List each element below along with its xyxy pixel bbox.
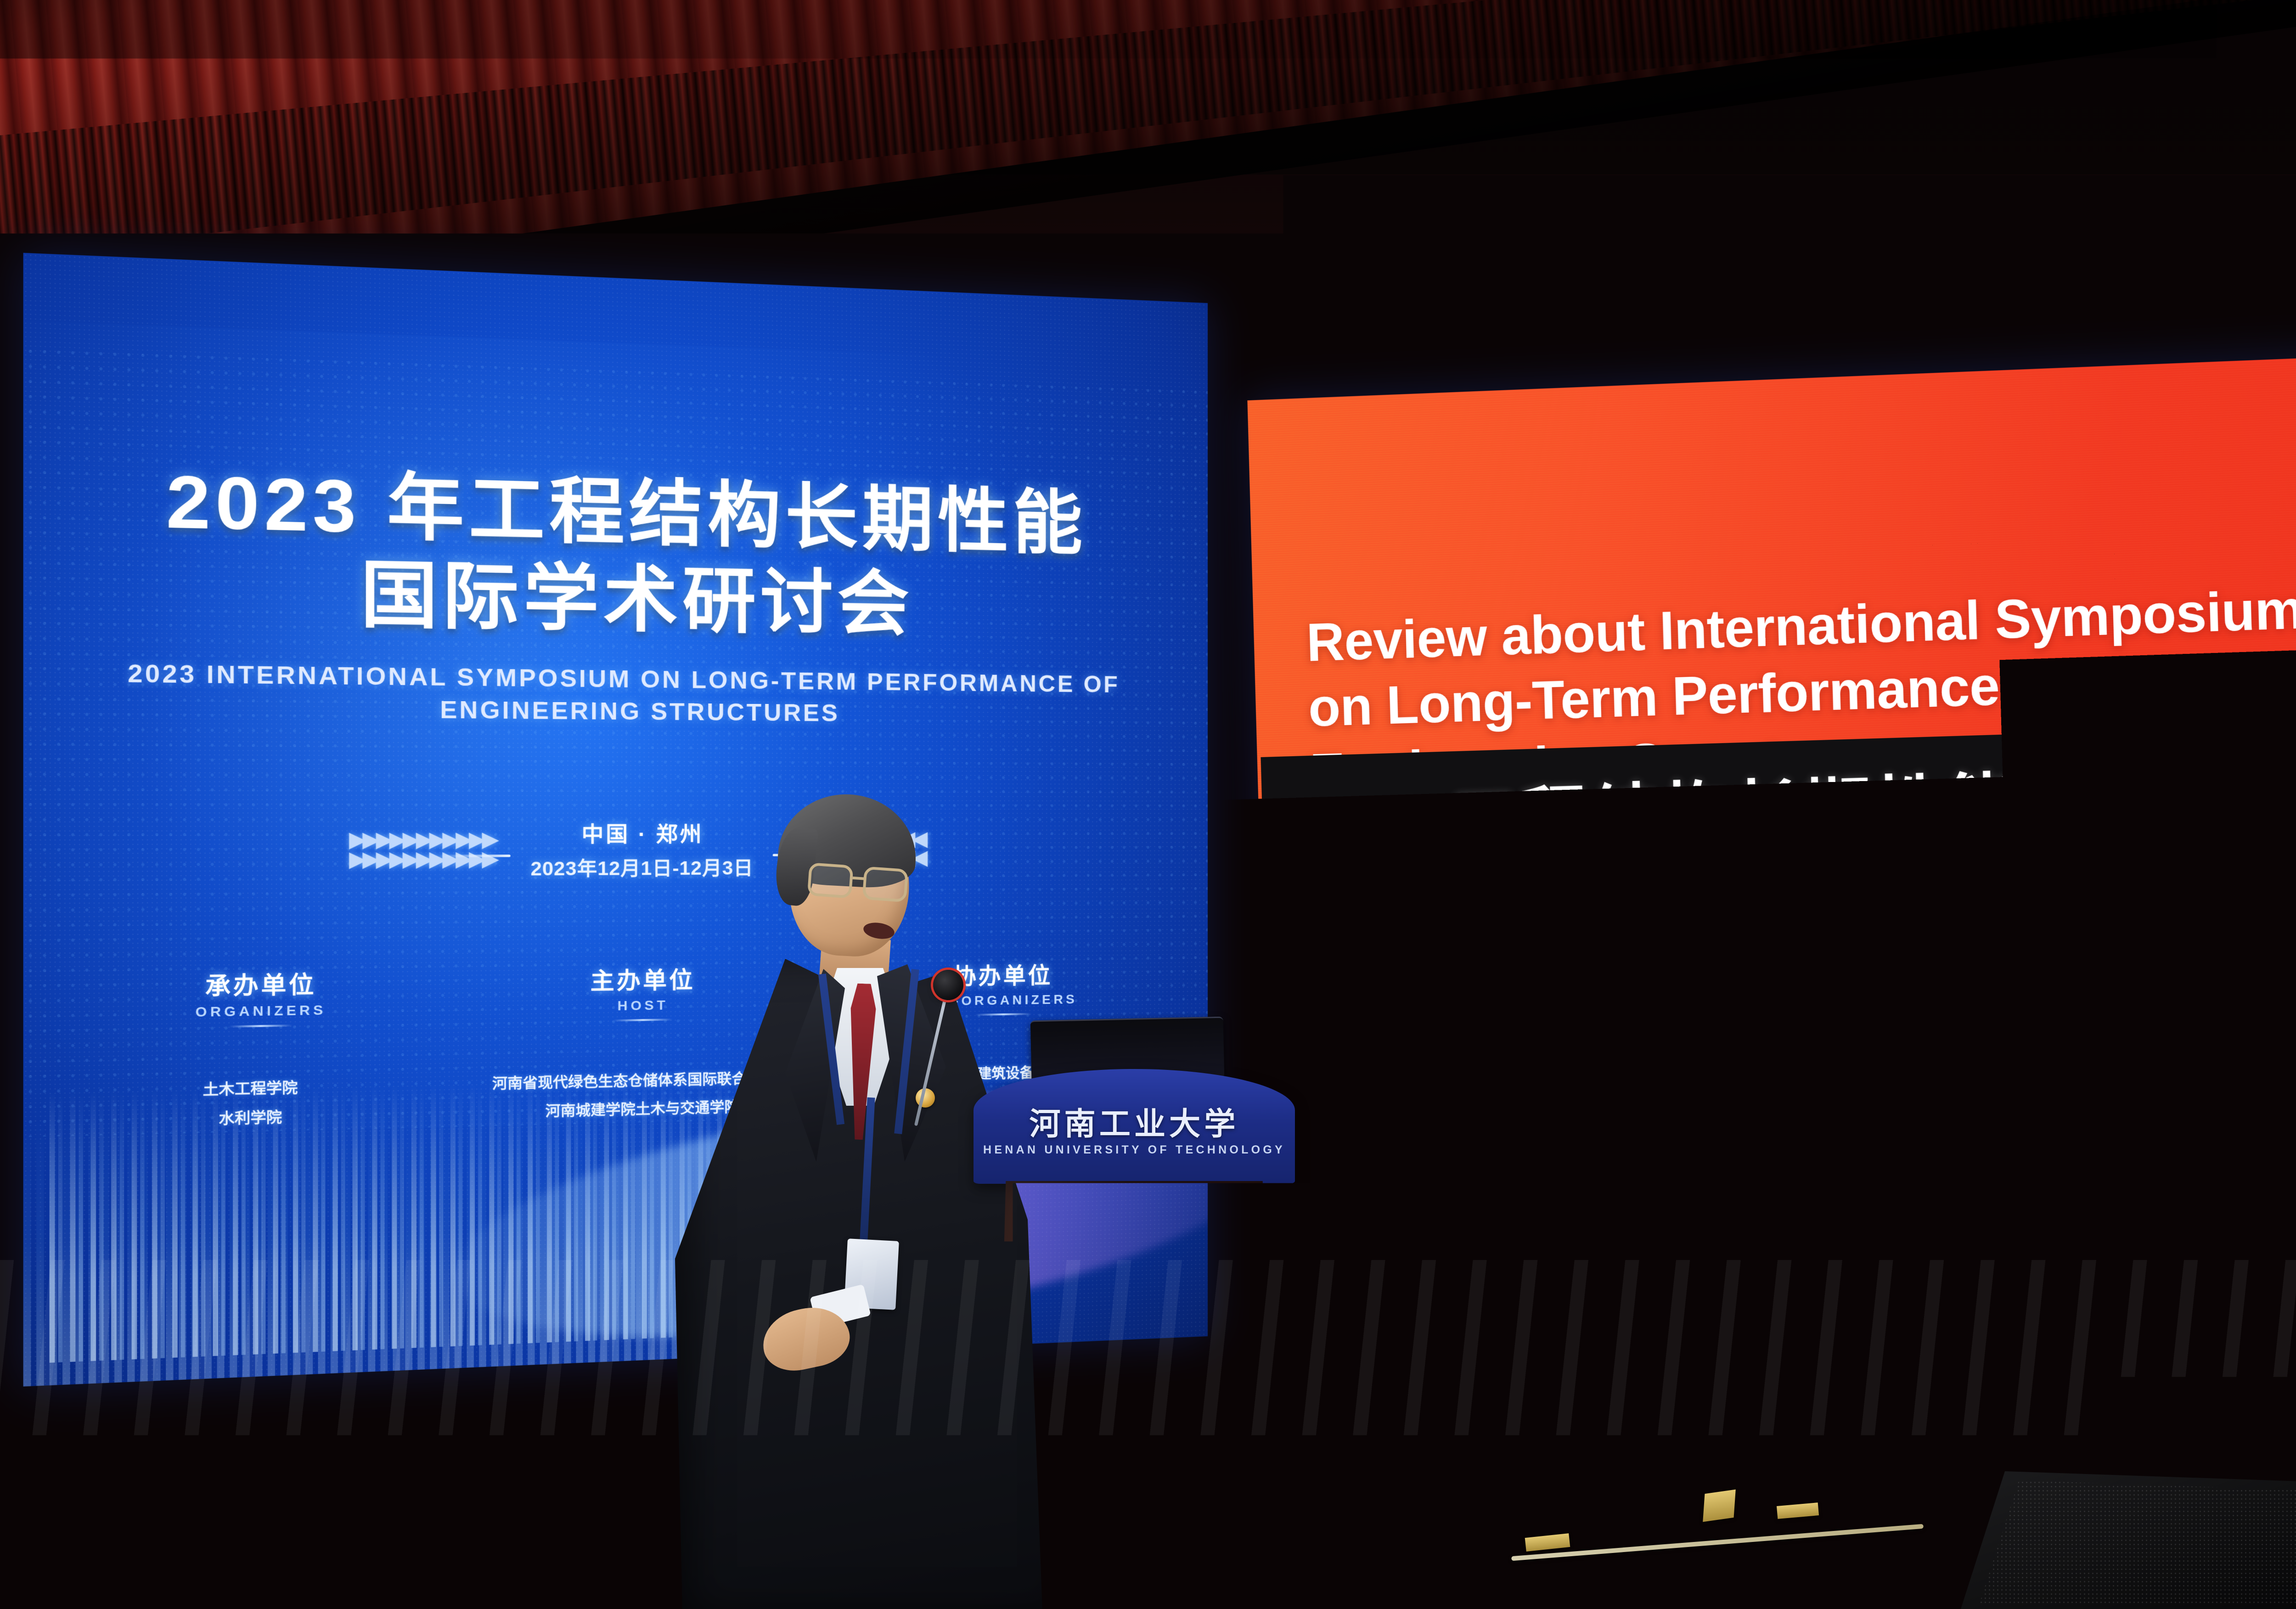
glasses-lens-left [807,862,854,899]
center-presentation-screen: Review about International Symposium on … [1247,353,2296,1300]
slide-title-chinese-band: 工程结构长期性能 国际学术研讨会回顾 [1261,728,2219,983]
section-en-label: ORGANIZERS [63,1001,453,1022]
slide-year-value: 2023 [2187,820,2296,894]
slide-title-zh-line1: 工程结构长期性能 [1449,762,2020,864]
glasses-bridge [853,877,865,880]
podium-name-chinese: 河南工业大学 [974,1098,1295,1144]
glasses-lens-right [862,866,909,903]
podium-name-english: HENAN UNIVERSITY OF TECHNOLOGY [974,1143,1295,1157]
section-zh-label: 承办单位 [63,963,453,1003]
section-header-organizers: 承办单位 ORGANIZERS [63,963,453,1030]
speaker-grille-texture [1979,1480,2296,1604]
eyeglasses-icon [807,862,913,904]
chevrons-left-icon: ▶▶▶▶▶▶▶▶▶▶▶ ▶▶▶▶▶▶▶▶▶▶▶ [349,830,495,870]
gold-tape-marker [1703,1490,1736,1522]
slide-title-zh-line2: 国际学术研讨会回顾 [1417,850,2059,952]
microphone-icon [933,970,963,1000]
conference-stage-scene: 2023 年工程结构长期性能 国际学术研讨会 2023 INTERNATIONA… [0,0,2296,1609]
slide-year-badge: 2023 [2144,754,2296,959]
floor-gloss-highlights [0,1260,2296,1609]
divider-rule-left [439,855,510,857]
